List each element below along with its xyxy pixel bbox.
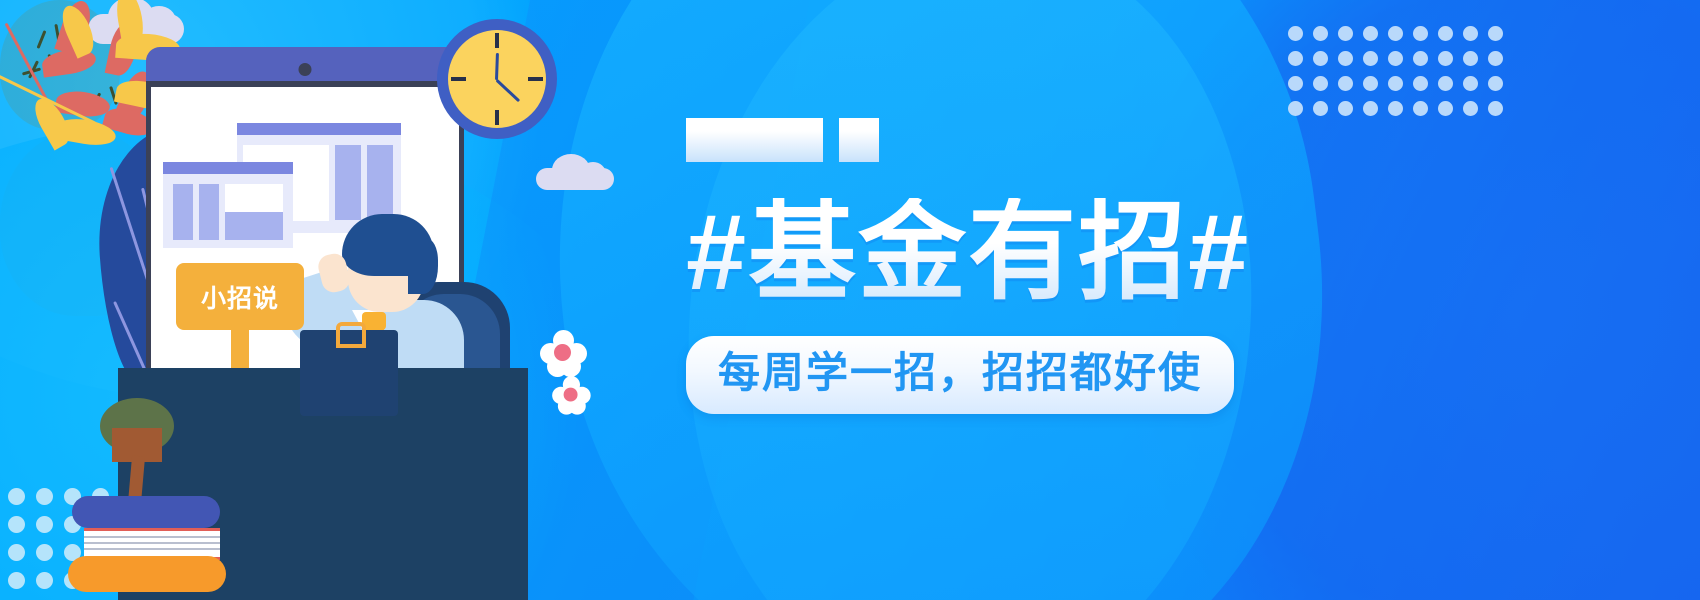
dot — [1388, 51, 1403, 66]
dot — [1363, 51, 1378, 66]
dot — [1438, 76, 1453, 91]
clock-tick — [528, 77, 543, 81]
dot — [1388, 101, 1403, 116]
sign-board[interactable]: 小招说 — [176, 263, 304, 330]
dot — [1388, 26, 1403, 41]
dot — [1438, 51, 1453, 66]
dot — [36, 572, 53, 589]
clock-tick — [495, 33, 499, 48]
redacted-bar-long — [686, 118, 823, 162]
cloud-icon — [536, 168, 614, 190]
dot — [1288, 51, 1303, 66]
clipboard-clip — [336, 322, 366, 348]
window-titlebar — [163, 162, 293, 174]
screen-window-front — [163, 162, 293, 248]
dot — [1413, 51, 1428, 66]
dot — [1288, 26, 1303, 41]
dot — [8, 516, 25, 533]
dot — [1488, 26, 1503, 41]
wall-clock — [437, 19, 557, 139]
camera-icon — [299, 63, 312, 76]
dot — [1288, 76, 1303, 91]
dot — [1463, 51, 1478, 66]
chart-bar — [199, 184, 219, 240]
page-line — [84, 548, 220, 550]
page-line — [84, 542, 220, 544]
dot — [36, 488, 53, 505]
dot — [1463, 101, 1478, 116]
dot — [1363, 76, 1378, 91]
dot — [8, 572, 25, 589]
clock-tick — [451, 77, 466, 81]
bush-notch — [37, 30, 47, 49]
dot — [1338, 26, 1353, 41]
dot — [1338, 101, 1353, 116]
chart-bar — [225, 212, 283, 240]
dot — [36, 544, 53, 561]
dot — [1488, 76, 1503, 91]
dot — [1388, 76, 1403, 91]
chart-bar — [173, 184, 193, 240]
dot — [1413, 26, 1428, 41]
dot — [8, 544, 25, 561]
flower-center — [554, 344, 571, 361]
dot — [1438, 101, 1453, 116]
page-line — [84, 536, 220, 538]
promo-banner: 小招说 #基金有招# 每周学一招，招招都好使 — [0, 0, 1700, 600]
book-orange — [68, 556, 226, 592]
dot — [1488, 51, 1503, 66]
dot — [1413, 101, 1428, 116]
dot — [1488, 101, 1503, 116]
redacted-text-placeholder — [686, 118, 1306, 162]
person-hair-back — [408, 238, 438, 294]
flower-white-pink — [540, 330, 586, 376]
dot — [36, 516, 53, 533]
dot — [1413, 76, 1428, 91]
redacted-bar-short — [839, 118, 879, 162]
banner-content: #基金有招# 每周学一招，招招都好使 — [686, 118, 1306, 414]
dot — [1463, 76, 1478, 91]
dot — [8, 488, 25, 505]
dot — [1338, 51, 1353, 66]
flower-center — [564, 388, 578, 402]
dot — [1363, 101, 1378, 116]
subtitle-text: 每周学一招，招招都好使 — [718, 349, 1202, 396]
subtitle-pill: 每周学一招，招招都好使 — [686, 336, 1234, 414]
dot — [1438, 26, 1453, 41]
dot — [1313, 26, 1328, 41]
book-blue — [72, 496, 220, 528]
sign-label: 小招说 — [201, 279, 279, 315]
page-title: #基金有招# — [686, 198, 1306, 306]
dot — [1338, 76, 1353, 91]
dot — [1463, 26, 1478, 41]
dot — [1288, 101, 1303, 116]
clock-tick — [495, 110, 499, 125]
dot — [1363, 26, 1378, 41]
dot-grid-top-right — [1288, 26, 1513, 126]
dot — [1313, 76, 1328, 91]
window-titlebar — [237, 123, 401, 135]
dot — [1313, 51, 1328, 66]
flower-white-pink — [552, 376, 590, 414]
dot — [1313, 101, 1328, 116]
